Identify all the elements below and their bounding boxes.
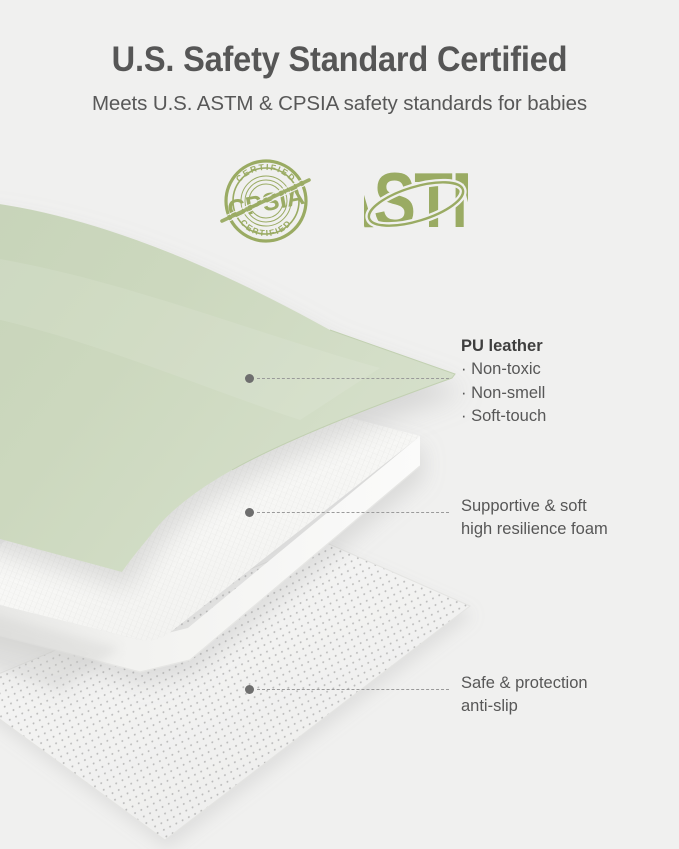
callout-line-pu-leather [257, 378, 449, 379]
svg-text:CERTIFIED: CERTIFIED [233, 162, 298, 184]
callout-line2-anti-slip: anti-slip [461, 695, 588, 718]
callout-item-non-toxic: · Non-toxic [461, 358, 546, 381]
callout-line1-anti-slip: Safe & protection [461, 672, 588, 695]
callout-line-foam [257, 512, 449, 513]
callout-dot-anti-slip [245, 685, 254, 694]
certification-badges: CERTIFIED CERTIFIED CPSIA ASTM [0, 152, 679, 248]
callout-item-non-smell: · Non-smell [461, 382, 546, 405]
callout-line-anti-slip [257, 689, 449, 690]
product-infographic: U.S. Safety Standard Certified Meets U.S… [0, 0, 679, 849]
callout-heading-pu-leather: PU leather [461, 335, 546, 358]
callout-text-anti-slip: Safe & protection anti-slip [461, 672, 588, 719]
cpsia-arc-top: CERTIFIED [233, 162, 298, 184]
header: U.S. Safety Standard Certified Meets U.S… [0, 0, 679, 116]
callout-text-pu-leather: PU leather · Non-toxic · Non-smell · Sof… [461, 335, 546, 429]
astm-badge-icon: ASTM [364, 152, 468, 248]
callout-dot-pu-leather [245, 374, 254, 383]
page-subtitle: Meets U.S. ASTM & CPSIA safety standards… [0, 80, 679, 116]
callout-dot-foam [245, 508, 254, 517]
callout-line2-foam: high resilience foam [461, 518, 608, 541]
cpsia-badge-icon: CERTIFIED CERTIFIED CPSIA [212, 152, 320, 248]
callout-text-foam: Supportive & soft high resilience foam [461, 495, 608, 542]
product-layer-stack [0, 0, 679, 849]
page-title: U.S. Safety Standard Certified [24, 0, 655, 80]
callout-item-soft-touch: · Soft-touch [461, 405, 546, 428]
callout-line1-foam: Supportive & soft [461, 495, 608, 518]
